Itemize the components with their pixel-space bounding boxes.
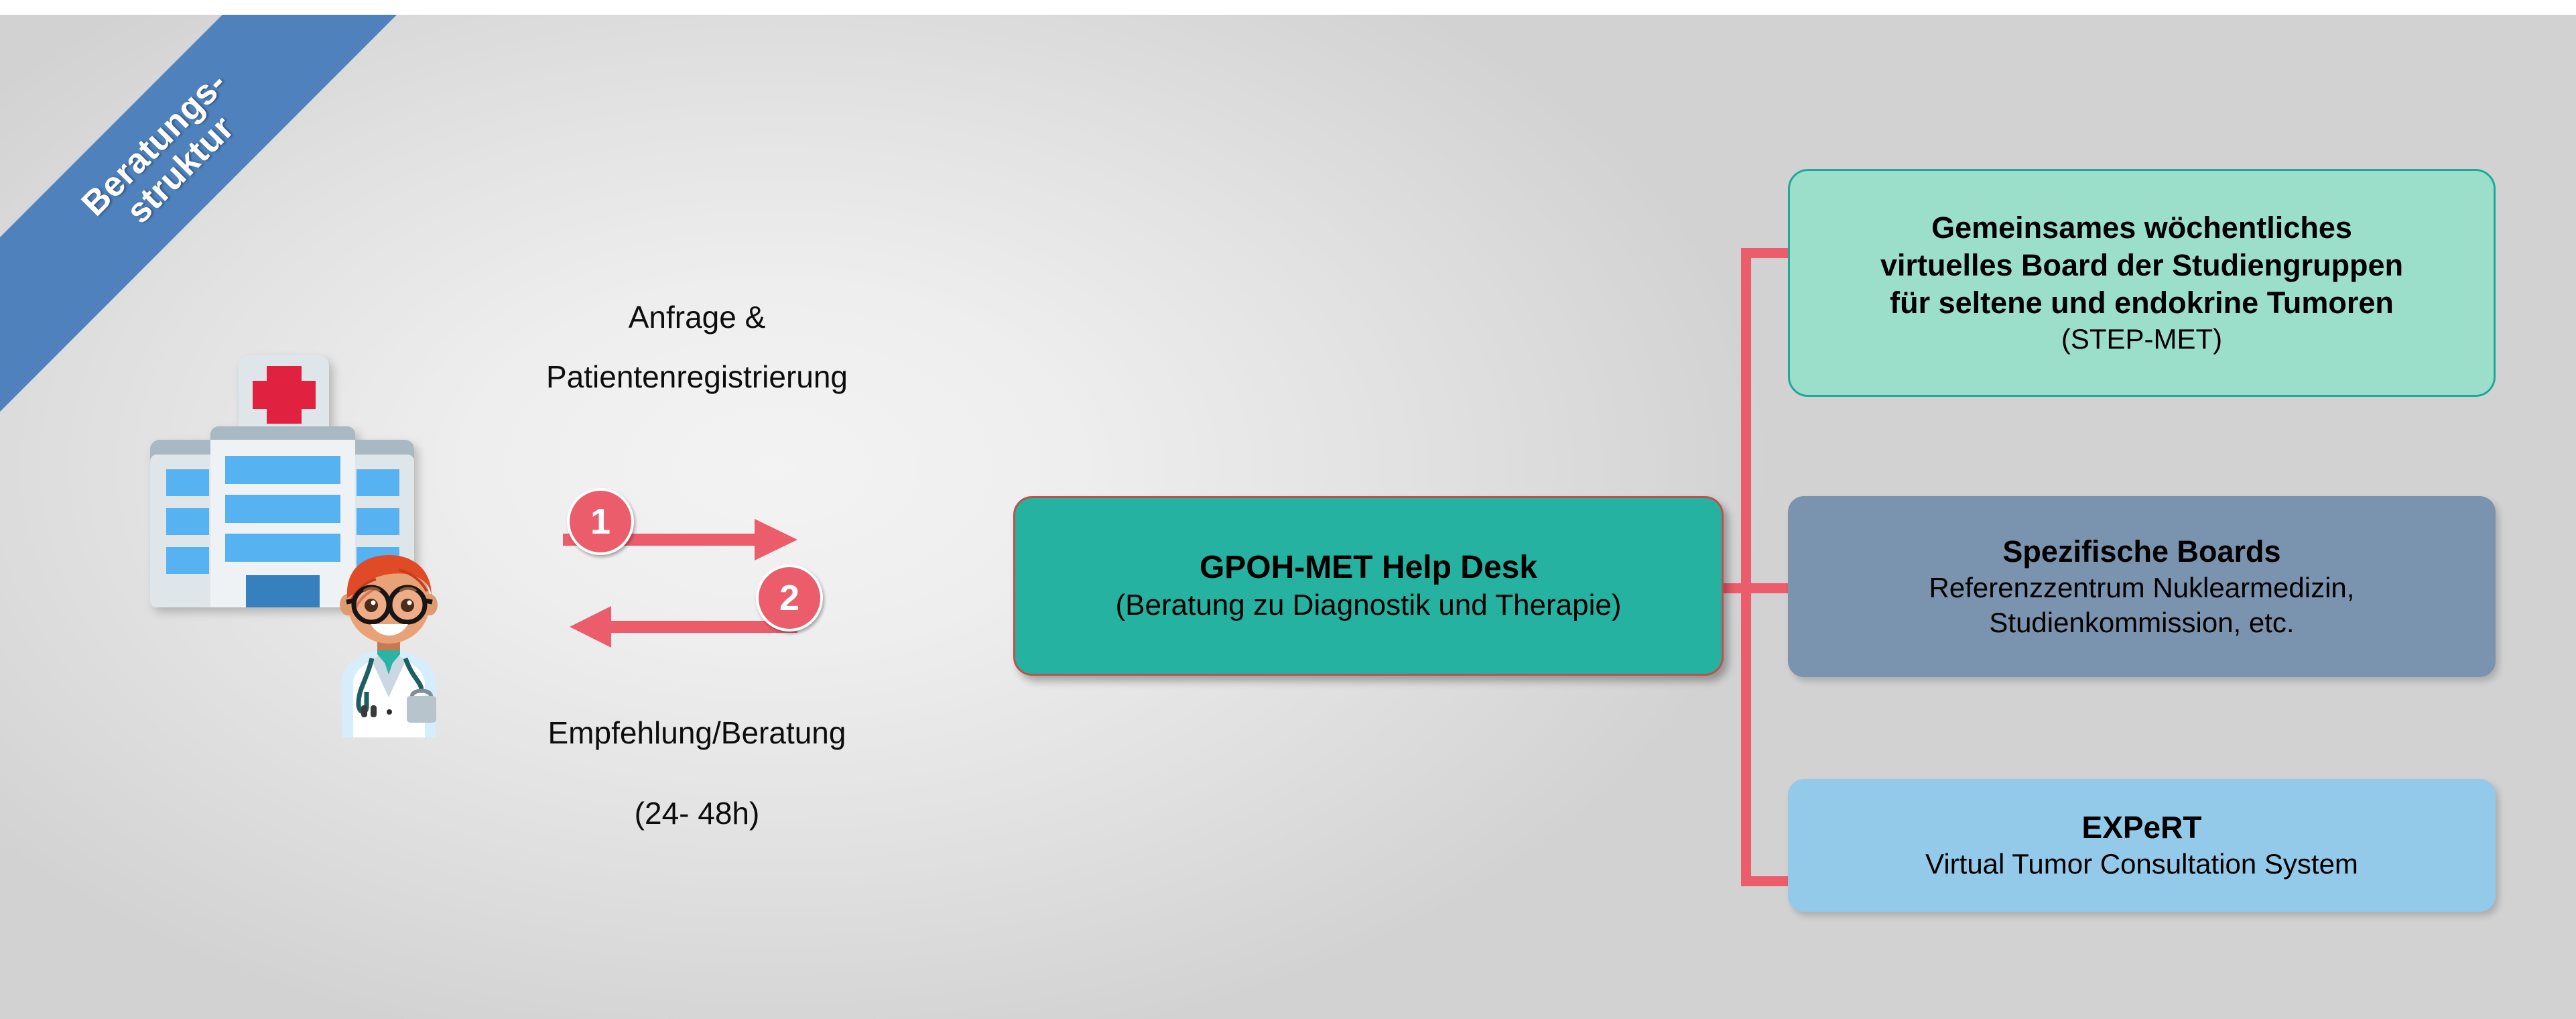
response-label: Empfehlung/Beratung <box>509 711 885 756</box>
expert-title: EXPeRT <box>2082 808 2202 847</box>
node-step-met[interactable]: Gemeinsames wöchentliches virtuelles Boa… <box>1788 169 2496 397</box>
step-met-line2: virtuelles Board der Studiengruppen <box>1880 247 2403 284</box>
helpdesk-subtitle: (Beratung zu Diagnostik und Therapie) <box>1116 587 1622 623</box>
expert-subtitle: Virtual Tumor Consultation System <box>1925 847 2358 882</box>
specific-boards-title: Spezifische Boards <box>2002 533 2280 571</box>
request-label-line1: Anfrage & <box>523 295 871 340</box>
step-met-line4: (STEP-MET) <box>2061 322 2222 357</box>
specific-boards-line2: Studienkommission, etc. <box>1989 605 2294 640</box>
response-timing-label: (24- 48h) <box>509 791 885 836</box>
diagram-canvas: Beratungs- struktur <box>0 0 2576 1019</box>
step-badge-2: 2 <box>756 564 823 632</box>
step-badge-1: 1 <box>567 488 634 555</box>
node-expert[interactable]: EXPeRT Virtual Tumor Consultation System <box>1788 779 2496 912</box>
request-label-line2: Patientenregistrierung <box>523 355 871 400</box>
step-met-line3: für seltene und endokrine Tumoren <box>1890 284 2394 322</box>
helpdesk-title: GPOH-MET Help Desk <box>1200 548 1537 588</box>
doctor-avatar-icon <box>305 543 472 737</box>
specific-boards-line1: Referenzzentrum Nuklearmedizin, <box>1929 571 2355 605</box>
node-specific-boards[interactable]: Spezifische Boards Referenzzentrum Nukle… <box>1788 496 2496 677</box>
request-label: Anfrage & Patientenregistrierung <box>523 295 871 399</box>
step-met-line1: Gemeinsames wöchentliches <box>1931 209 2352 247</box>
node-gpoh-met-help-desk[interactable]: GPOH-MET Help Desk (Beratung zu Diagnost… <box>1013 496 1724 676</box>
